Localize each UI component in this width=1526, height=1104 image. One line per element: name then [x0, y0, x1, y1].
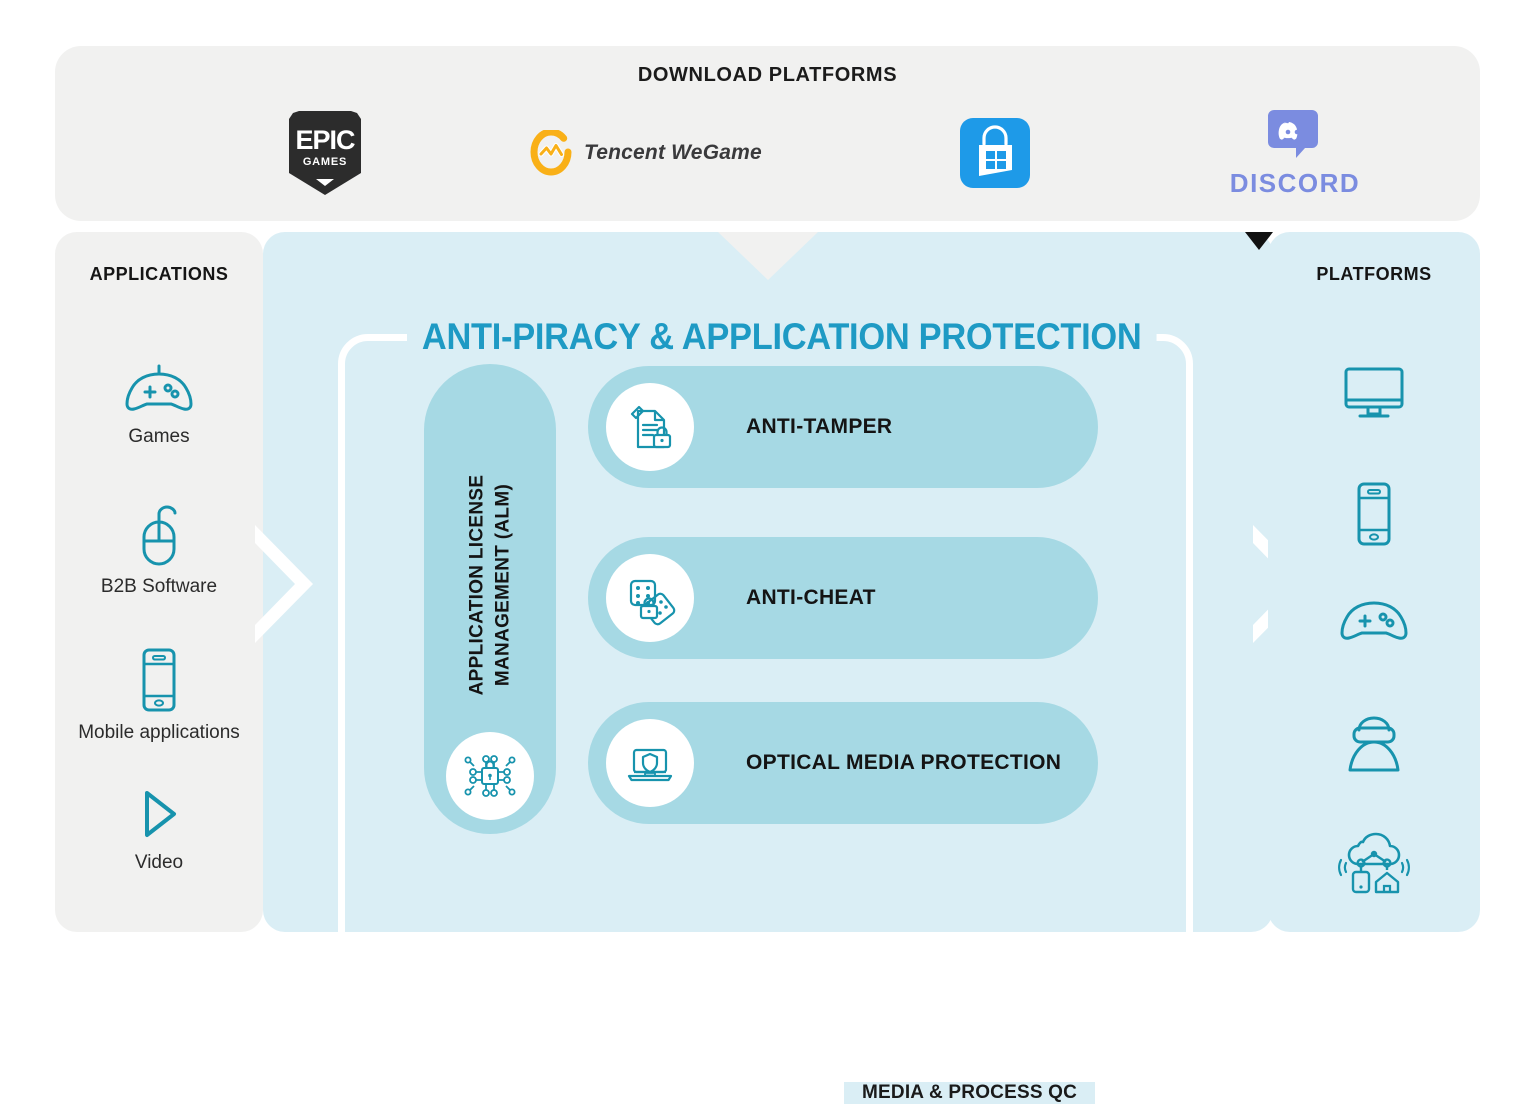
feature-pill-optical-media-protection[interactable]: OPTICAL MEDIA PROTECTION — [588, 702, 1098, 824]
epic-shield-shape: EPIC GAMES — [289, 111, 361, 195]
feature-icon-badge — [606, 719, 694, 807]
epic-subwordmark: GAMES — [289, 157, 361, 168]
platform-item-smartphone[interactable] — [1268, 480, 1480, 548]
play-icon — [133, 786, 185, 844]
platform-item-monitor[interactable] — [1268, 364, 1480, 422]
application-item-video[interactable]: Video — [55, 786, 263, 874]
shopping-bag-windows-icon — [960, 118, 1030, 188]
monitor-icon — [1339, 364, 1409, 422]
feature-pill-anti-tamper[interactable]: ANTI-TAMPER — [588, 366, 1098, 488]
cloud-iot-icon — [1328, 822, 1420, 894]
laptop-shield-icon — [621, 734, 679, 792]
tencent-wegame-logo[interactable]: Tencent WeGame — [475, 98, 805, 208]
application-label: Mobile applications — [55, 722, 263, 744]
discord-bubble-icon — [1266, 108, 1324, 164]
diagram-canvas: DOWNLOAD PLATFORMS EPIC GAMES — [0, 0, 1526, 980]
platform-logo-row: EPIC GAMES Tencent WeGame — [55, 98, 1480, 208]
epic-games-logo[interactable]: EPIC GAMES — [230, 98, 420, 208]
application-item-mobile-applications[interactable]: Mobile applications — [55, 646, 263, 744]
alm-label-line2: MANAGEMENT (ALM) — [492, 484, 513, 686]
alm-label: APPLICATION LICENSE MANAGEMENT (ALM) — [464, 475, 515, 696]
microsoft-store-tile — [960, 118, 1030, 188]
anti-piracy-main-panel: ANTI-PIRACY & APPLICATION PROTECTION MED… — [263, 232, 1273, 932]
feature-label: ANTI-TAMPER — [746, 415, 892, 439]
smartphone-icon — [135, 646, 183, 714]
platforms-panel: PLATFORMS — [1268, 232, 1480, 932]
application-label: B2B Software — [55, 576, 263, 598]
mouse-icon — [132, 504, 186, 568]
media-process-qc-label: MEDIA & PROCESS QC — [844, 1082, 1095, 1104]
alm-column[interactable]: APPLICATION LICENSE MANAGEMENT (ALM) — [424, 364, 556, 834]
applications-panel: APPLICATIONS Games B2B Software — [55, 232, 263, 932]
chip-lock-icon — [461, 747, 519, 805]
application-label: Games — [55, 426, 263, 448]
gamepad-icon — [122, 360, 196, 418]
main-title: ANTI-PIRACY & APPLICATION PROTECTION — [407, 316, 1156, 358]
epic-wordmark: EPIC — [289, 127, 361, 154]
feature-icon-badge — [606, 554, 694, 642]
platform-item-gamepad[interactable] — [1268, 599, 1480, 651]
download-connector-notch — [718, 232, 818, 280]
discord-logo[interactable]: DISCORD — [1160, 98, 1430, 208]
download-platforms-panel: DOWNLOAD PLATFORMS EPIC GAMES — [55, 46, 1480, 221]
alm-label-line1: APPLICATION LICENSE — [466, 475, 487, 696]
microsoft-store-logo[interactable] — [895, 98, 1095, 208]
discord-wordmark: DISCORD — [1230, 168, 1360, 199]
epic-notch-icon — [316, 179, 334, 186]
alm-icon-badge — [446, 732, 534, 820]
gamepad-icon — [1337, 599, 1411, 651]
application-item-games[interactable]: Games — [55, 360, 263, 448]
applications-heading: APPLICATIONS — [55, 264, 263, 285]
download-platforms-title: DOWNLOAD PLATFORMS — [55, 64, 1480, 87]
platform-item-cloud-iot[interactable] — [1268, 822, 1480, 894]
feature-pill-anti-cheat[interactable]: ANTI-CHEAT — [588, 537, 1098, 659]
application-label: Video — [55, 852, 263, 874]
document-lock-icon — [621, 398, 679, 456]
applications-to-main-arrow — [255, 525, 313, 643]
tencent-egg-icon — [530, 130, 574, 176]
platform-item-vr-headset[interactable] — [1268, 714, 1480, 776]
tencent-wegame-wordmark: Tencent WeGame — [584, 141, 762, 165]
application-item-b2b-software[interactable]: B2B Software — [55, 504, 263, 598]
dice-lock-icon — [621, 569, 679, 627]
platforms-heading: PLATFORMS — [1268, 264, 1480, 285]
feature-label: OPTICAL MEDIA PROTECTION — [746, 751, 1061, 775]
vr-headset-icon — [1339, 714, 1409, 776]
feature-icon-badge — [606, 383, 694, 471]
smartphone-icon — [1350, 480, 1398, 548]
feature-label: ANTI-CHEAT — [746, 586, 876, 610]
